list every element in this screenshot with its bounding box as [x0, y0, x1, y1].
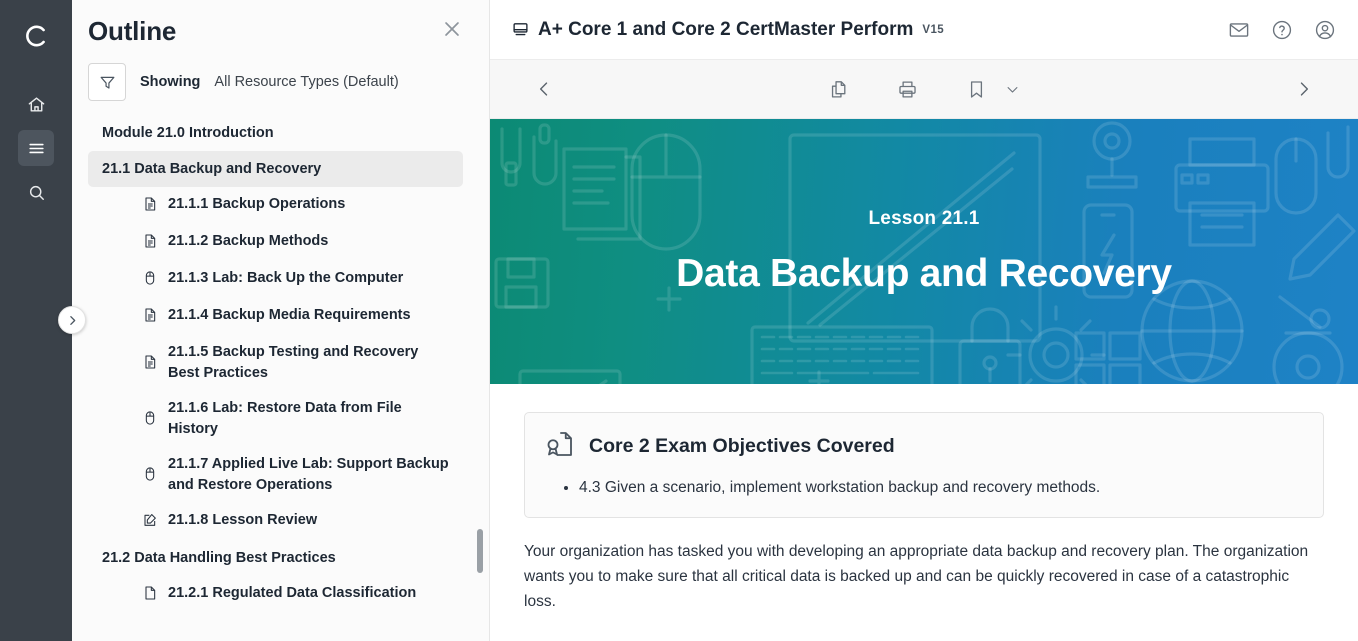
- chevron-right-icon: [1294, 79, 1314, 99]
- exam-objectives-title: Core 2 Exam Objectives Covered: [589, 435, 895, 458]
- document-icon: [142, 196, 158, 217]
- exam-objectives-list: 4.3 Given a scenario, implement workstat…: [579, 476, 1303, 499]
- document-icon: [142, 233, 158, 254]
- monitor-icon: [512, 21, 529, 38]
- list-item-label: 21.2.1 Regulated Data Classification: [168, 583, 416, 604]
- document-toolbar: [490, 60, 1358, 119]
- list-item-label: 21.1.3 Lab: Back Up the Computer: [168, 268, 403, 289]
- page-title: Outline: [88, 16, 176, 47]
- tree-lesson-item[interactable]: 21.2 Data Handling Best Practices: [88, 540, 463, 576]
- lesson-content: Lesson 21.1 Data Backup and Recovery Cor…: [490, 119, 1358, 641]
- lab-mouse-icon: [142, 410, 158, 431]
- app-root: Outline Showing All Resource Types (Defa…: [0, 0, 1358, 641]
- tree-lesson-item-active[interactable]: 21.1 Data Backup and Recovery: [88, 151, 463, 187]
- list-item-label: 21.1.4 Backup Media Requirements: [168, 305, 411, 326]
- help-icon[interactable]: [1271, 19, 1293, 41]
- outline-panel: Outline Showing All Resource Types (Defa…: [72, 0, 490, 641]
- outline-icon: [27, 139, 46, 158]
- list-item-label: 21.1.7 Applied Live Lab: Support Backup …: [168, 454, 449, 496]
- certificate-icon: [545, 429, 575, 464]
- bookmark-icon[interactable]: [966, 79, 987, 100]
- list-item[interactable]: 21.1.2 Backup Methods: [88, 224, 463, 261]
- chevron-right-icon: [66, 314, 79, 327]
- list-item-label: 21.1.6 Lab: Restore Data from File Histo…: [168, 398, 449, 440]
- print-icon[interactable]: [897, 79, 918, 100]
- list-item[interactable]: 21.1.5 Backup Testing and Recovery Best …: [88, 335, 463, 391]
- prev-page-button[interactable]: [534, 79, 554, 99]
- close-outline-button[interactable]: [439, 16, 465, 42]
- sidebar-item-home[interactable]: [18, 86, 54, 122]
- list-item-label: 21.1.5 Backup Testing and Recovery Best …: [168, 342, 449, 384]
- account-icon[interactable]: [1314, 19, 1336, 41]
- review-pencil-icon: [142, 512, 158, 533]
- lesson-body: Core 2 Exam Objectives Covered 4.3 Given…: [490, 384, 1358, 615]
- search-icon: [27, 183, 46, 202]
- document-icon: [142, 307, 158, 328]
- document-version: V15: [922, 24, 944, 36]
- showing-label: Showing: [140, 74, 200, 90]
- lab-mouse-icon: [142, 466, 158, 487]
- document-icon: [142, 585, 158, 606]
- home-icon: [27, 95, 46, 114]
- copy-icon[interactable]: [828, 79, 849, 100]
- exam-objectives-box: Core 2 Exam Objectives Covered 4.3 Given…: [524, 412, 1324, 518]
- tree-module-item[interactable]: Module 21.0 Introduction: [88, 117, 463, 149]
- mail-icon[interactable]: [1228, 19, 1250, 41]
- list-item[interactable]: 21.1.4 Backup Media Requirements: [88, 298, 463, 335]
- toolbar-actions: [554, 79, 1294, 100]
- list-item[interactable]: 21.1.6 Lab: Restore Data from File Histo…: [88, 391, 463, 447]
- main-content: A+ Core 1 and Core 2 CertMaster Perform …: [490, 0, 1358, 641]
- outline-scrollbar-thumb[interactable]: [477, 529, 483, 573]
- header-actions: [1228, 19, 1336, 41]
- banner-text: Lesson 21.1 Data Backup and Recovery: [676, 208, 1172, 296]
- resource-filter-row: Showing All Resource Types (Default): [72, 47, 489, 111]
- exam-objectives-header: Core 2 Exam Objectives Covered: [545, 429, 1303, 464]
- document-icon: [142, 354, 158, 375]
- outline-header: Outline: [72, 0, 489, 47]
- list-item-label: 21.1.2 Backup Methods: [168, 231, 328, 252]
- sidebar-item-outline[interactable]: [18, 130, 54, 166]
- document-title: A+ Core 1 and Core 2 CertMaster Perform: [538, 19, 913, 41]
- list-item[interactable]: 21.1.8 Lesson Review: [88, 503, 463, 540]
- lab-mouse-icon: [142, 270, 158, 291]
- filter-icon: [98, 73, 117, 92]
- list-item[interactable]: 21.1.3 Lab: Back Up the Computer: [88, 261, 463, 298]
- chevron-down-icon[interactable]: [1005, 82, 1020, 97]
- sidebar-item-search[interactable]: [18, 174, 54, 210]
- lesson-paragraph: Your organization has tasked you with de…: [524, 540, 1314, 614]
- chevron-left-icon: [534, 79, 554, 99]
- app-logo[interactable]: [16, 16, 56, 56]
- list-item[interactable]: 21.2.1 Regulated Data Classification: [88, 576, 463, 613]
- showing-value[interactable]: All Resource Types (Default): [214, 74, 398, 90]
- lesson-banner: Lesson 21.1 Data Backup and Recovery: [490, 119, 1358, 384]
- outline-tree: Module 21.0 Introduction 21.1 Data Backu…: [72, 111, 489, 641]
- list-item-label: 21.1.1 Backup Operations: [168, 194, 345, 215]
- sidebar-collapse-toggle[interactable]: [58, 306, 86, 334]
- close-icon: [439, 16, 465, 42]
- list-item[interactable]: 21.1.7 Applied Live Lab: Support Backup …: [88, 447, 463, 503]
- list-item: 4.3 Given a scenario, implement workstat…: [579, 476, 1303, 499]
- filter-button[interactable]: [88, 63, 126, 101]
- banner-lesson-title: Data Backup and Recovery: [676, 252, 1172, 296]
- next-page-button[interactable]: [1294, 79, 1314, 99]
- document-header: A+ Core 1 and Core 2 CertMaster Perform …: [490, 0, 1358, 60]
- list-item[interactable]: 21.1.1 Backup Operations: [88, 187, 463, 224]
- list-item-label: 21.1.8 Lesson Review: [168, 510, 317, 531]
- banner-lesson-number: Lesson 21.1: [676, 208, 1172, 230]
